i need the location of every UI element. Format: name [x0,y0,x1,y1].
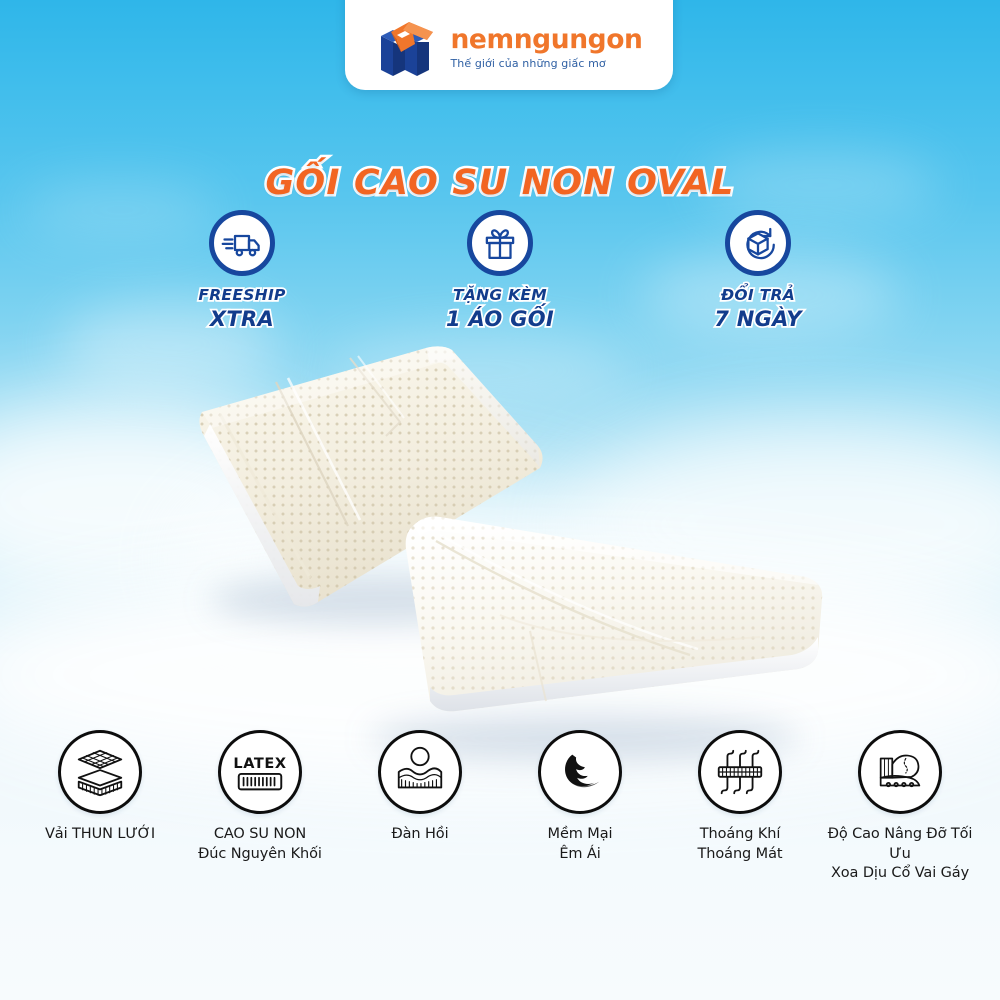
promo-badge-row: FREESHIP XTRA TẶNG KÈM 1 ÁO GỐI [0,210,1000,330]
brand-logo-card[interactable]: nemngungon Thế giới của những giấc mơ [345,0,673,90]
feature-item-elasticity[interactable]: Đàn Hồi [340,730,500,845]
feather-soft-icon [538,730,622,814]
page-title: GỐI CAO SU NON OVAL [0,163,1000,203]
feature-label: Độ Cao Nâng Đỡ Tối Ưu Xoa Dịu Cổ Vai Gáy [820,825,980,884]
gift-box-icon [467,210,533,276]
feature-label: Vải THUN LƯỚI [45,825,155,845]
promo-line1: FREESHIP [198,287,285,303]
product-image-group [0,330,1000,760]
promo-line1: ĐỔI TRẢ [721,287,795,303]
return-box-icon [725,210,791,276]
feature-item-breathable[interactable]: Thoáng Khí Thoáng Mát [660,730,820,864]
elasticity-icon [378,730,462,814]
promo-line2: 1 ÁO GỐI [446,308,554,330]
promo-badge-gift[interactable]: TẶNG KÈM 1 ÁO GỐI [425,210,575,330]
brand-tagline: Thế giới của những giấc mơ [450,58,642,69]
advertisement-canvas: nemngungon Thế giới của những giấc mơ GỐ… [0,0,1000,1000]
promo-line2: XTRA [210,308,274,330]
feature-label: CAO SU NON Đúc Nguyên Khối [198,825,322,864]
promo-badge-freeship[interactable]: FREESHIP XTRA [167,210,317,330]
feature-label: Mềm Mại Êm Ái [548,825,613,864]
feature-item-latex[interactable]: LATEX CAO SU NON Đúc Nguyên Khối [180,730,340,864]
delivery-truck-icon [209,210,275,276]
neck-support-icon [858,730,942,814]
feature-row: Vải THUN LƯỚI LATEX CAO SU NON Đúc Nguyê… [0,730,1000,884]
feature-item-mesh-fabric[interactable]: Vải THUN LƯỚI [20,730,180,845]
airflow-breathable-icon [698,730,782,814]
brand-name: nemngungon [450,27,642,54]
layered-mesh-fabric-icon [58,730,142,814]
promo-line2: 7 NGÀY [714,308,802,330]
feature-label: Đàn Hồi [391,825,448,845]
feature-label: Thoáng Khí Thoáng Mát [698,825,783,864]
promo-badge-return[interactable]: ĐỔI TRẢ 7 NGÀY [683,210,833,330]
svg-text:LATEX: LATEX [233,756,286,772]
feature-item-softness[interactable]: Mềm Mại Êm Ái [500,730,660,864]
latex-block-icon: LATEX [218,730,302,814]
feature-item-neck-support[interactable]: Độ Cao Nâng Đỡ Tối Ưu Xoa Dịu Cổ Vai Gáy [820,730,980,884]
nn-logo-icon [375,18,441,78]
front-pillow [340,505,830,755]
promo-line1: TẶNG KÈM [453,287,547,303]
